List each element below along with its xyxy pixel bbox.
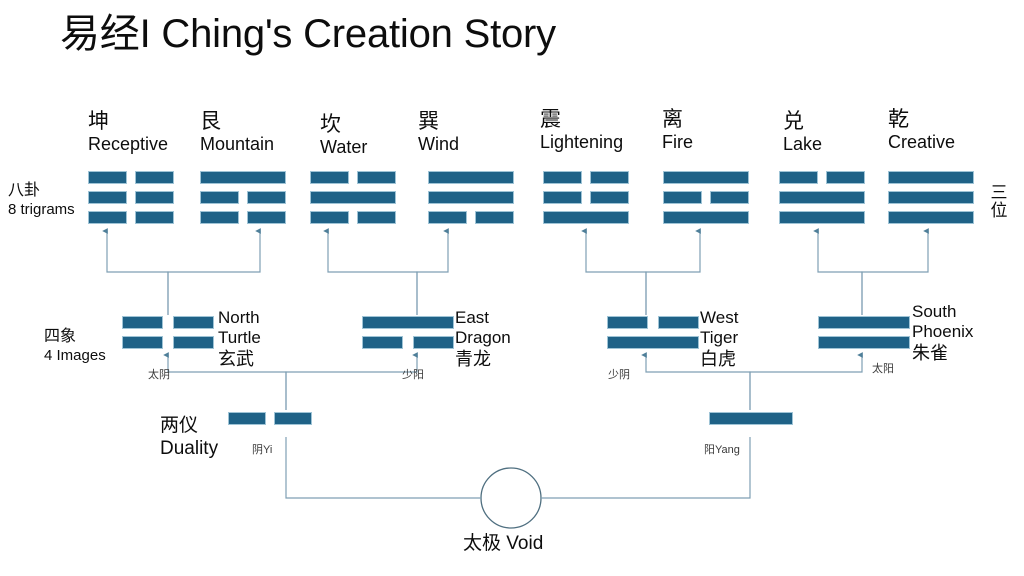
trigram-glyph-1 (200, 171, 286, 224)
trigram-7-line-top (888, 171, 974, 184)
trigram-label-2: 坎 Water (320, 113, 367, 157)
trigram-4-line-top (543, 171, 629, 184)
image-name-3-cn: 朱雀 (912, 343, 973, 365)
image-name-0-en2: Turtle (218, 328, 261, 348)
duality-glyph-yang (709, 412, 793, 425)
trigram-6-line-mid (779, 191, 865, 204)
diagram-canvas: 易经I Ching's Creation Story 八卦 8 trigrams… (0, 0, 1024, 576)
image-0-line-bot (122, 336, 214, 349)
image-glyph-2 (607, 316, 699, 349)
image-tag-1: 少阳 (402, 366, 424, 382)
level-label-four-images-en: 4 Images (44, 347, 106, 365)
image-name-0-cn: 玄武 (218, 349, 261, 371)
image-tag-3: 太阳 (872, 360, 894, 376)
trigram-glyph-7 (888, 171, 974, 224)
image-name-1-en1: East (455, 308, 511, 328)
image-tag-2: 少阴 (608, 366, 630, 382)
trigram-2-line-top (310, 171, 396, 184)
trigram-1-line-top (200, 171, 286, 184)
trigram-label-3-cn: 巽 (418, 110, 459, 134)
trigram-6-line-bot (779, 211, 865, 224)
image-name-3: South Phoenix 朱雀 (912, 302, 973, 364)
trigram-label-3: 巽 Wind (418, 110, 459, 154)
trigram-1-line-mid (200, 191, 286, 204)
image-3-line-top (818, 316, 910, 329)
image-2-line-top (607, 316, 699, 329)
trigram-2-line-mid (310, 191, 396, 204)
trigram-label-5-cn: 离 (662, 108, 693, 132)
trigram-5-line-top (663, 171, 749, 184)
trigram-glyph-5 (663, 171, 749, 224)
level-label-trigrams-cn: 八卦 (8, 181, 75, 201)
image-glyph-1 (362, 316, 454, 349)
image-3-line-bot (818, 336, 910, 349)
trigram-label-2-en: Water (320, 137, 367, 157)
trigram-glyph-6 (779, 171, 865, 224)
connector-lines (0, 0, 1024, 576)
image-name-3-en2: Phoenix (912, 322, 973, 342)
void-label: 太极 Void (463, 528, 543, 555)
image-name-1-cn: 青龙 (455, 349, 511, 371)
trigram-1-line-bot (200, 211, 286, 224)
level-label-three-positions: 三 位 (988, 184, 1010, 220)
image-tag-0: 太阴 (148, 366, 170, 382)
image-glyph-0 (122, 316, 214, 349)
level-label-trigrams: 八卦 8 trigrams (8, 181, 75, 219)
trigram-label-6: 兑 Lake (783, 110, 822, 154)
trigram-label-0: 坤 Receptive (88, 110, 168, 154)
level-label-duality: 两仪 Duality (160, 415, 218, 461)
image-name-1-en2: Dragon (455, 328, 511, 348)
image-name-1: East Dragon 青龙 (455, 308, 511, 370)
trigram-5-line-mid (663, 191, 749, 204)
trigram-label-4: 震 Lightening (540, 108, 623, 152)
trigram-7-line-mid (888, 191, 974, 204)
trigram-label-4-en: Lightening (540, 132, 623, 152)
trigram-label-5-en: Fire (662, 132, 693, 152)
duality-tag-yin: 阴Yi (252, 441, 272, 457)
trigram-label-5: 离 Fire (662, 108, 693, 152)
trigram-6-line-top (779, 171, 865, 184)
duality-glyph-yin (228, 412, 312, 425)
level-label-trigrams-en: 8 trigrams (8, 201, 75, 219)
level-label-four-images-cn: 四象 (44, 327, 106, 347)
page-title: 易经I Ching's Creation Story (60, 10, 556, 58)
level-label-duality-cn: 两仪 (160, 415, 218, 438)
image-name-2-cn: 白虎 (700, 349, 738, 371)
image-1-line-top (362, 316, 454, 329)
trigram-glyph-2 (310, 171, 396, 224)
trigram-4-line-mid (543, 191, 629, 204)
image-2-line-bot (607, 336, 699, 349)
image-name-0-en1: North (218, 308, 261, 328)
trigram-label-2-cn: 坎 (320, 113, 367, 137)
image-name-3-en1: South (912, 302, 973, 322)
level-label-four-images: 四象 4 Images (44, 327, 106, 365)
trigram-label-6-en: Lake (783, 134, 822, 154)
trigram-0-line-bot (88, 211, 174, 224)
duality-yang-line (709, 412, 793, 425)
trigram-3-line-top (428, 171, 514, 184)
trigram-0-line-top (88, 171, 174, 184)
trigram-0-line-mid (88, 191, 174, 204)
level-label-three-positions-c2: 位 (988, 202, 1010, 220)
trigram-label-7-en: Creative (888, 132, 955, 152)
trigram-label-7-cn: 乾 (888, 108, 955, 132)
trigram-label-6-cn: 兑 (783, 110, 822, 134)
trigram-glyph-0 (88, 171, 174, 224)
duality-tag-yang: 阳Yang (704, 441, 740, 457)
image-glyph-3 (818, 316, 910, 349)
trigram-label-0-cn: 坤 (88, 110, 168, 134)
trigram-7-line-bot (888, 211, 974, 224)
level-label-duality-en: Duality (160, 438, 218, 461)
trigram-label-1-en: Mountain (200, 134, 274, 154)
trigram-4-line-bot (543, 211, 629, 224)
trigram-label-3-en: Wind (418, 134, 459, 154)
trigram-glyph-4 (543, 171, 629, 224)
trigram-3-line-mid (428, 191, 514, 204)
trigram-label-7: 乾 Creative (888, 108, 955, 152)
trigram-glyph-3 (428, 171, 514, 224)
duality-yin-line (228, 412, 312, 425)
image-name-2-en1: West (700, 308, 738, 328)
trigram-2-line-bot (310, 211, 396, 224)
image-name-0: North Turtle 玄武 (218, 308, 261, 370)
image-0-line-top (122, 316, 214, 329)
image-name-2: West Tiger 白虎 (700, 308, 738, 370)
image-name-2-en2: Tiger (700, 328, 738, 348)
trigram-label-0-en: Receptive (88, 134, 168, 154)
trigram-label-1: 艮 Mountain (200, 110, 274, 154)
trigram-5-line-bot (663, 211, 749, 224)
trigram-label-1-cn: 艮 (200, 110, 274, 134)
trigram-label-4-cn: 震 (540, 108, 623, 132)
image-1-line-bot (362, 336, 454, 349)
trigram-3-line-bot (428, 211, 514, 224)
level-label-three-positions-c1: 三 (988, 184, 1010, 202)
